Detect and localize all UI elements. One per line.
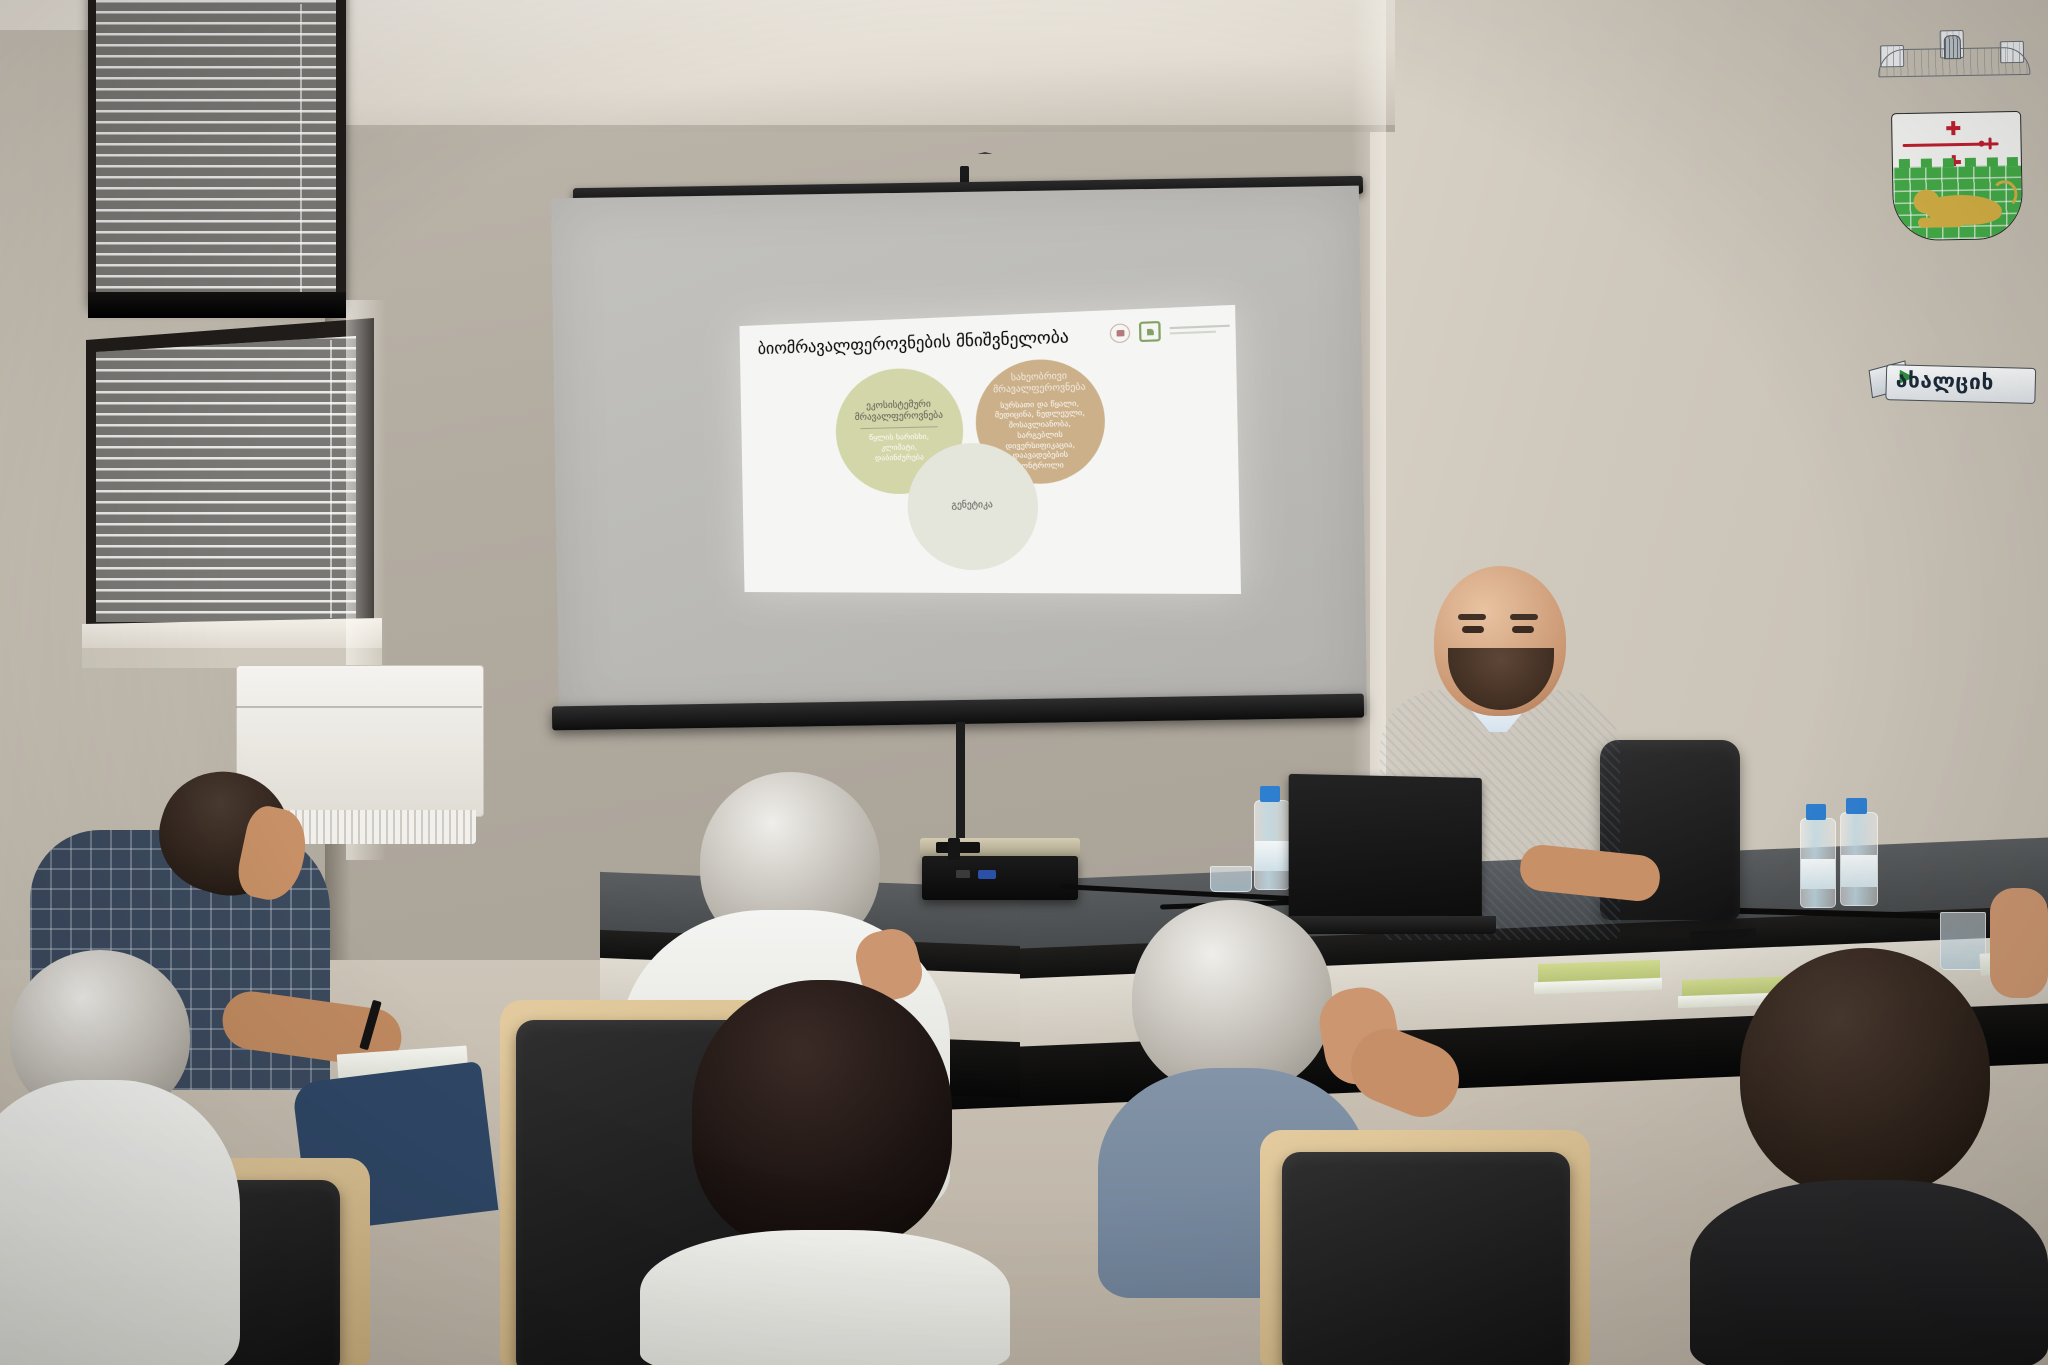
radiator-seam (236, 706, 482, 708)
laptop (1289, 774, 1482, 926)
bottle-cap (1846, 798, 1867, 814)
crest-crenel (1899, 159, 1910, 168)
circle-1-body: წყლის ხარისხი, კლიმატი, დაბინძურება (869, 432, 930, 463)
window-upper-sill (88, 292, 346, 318)
blind-cord-upper (300, 4, 302, 292)
crest-gate (1944, 35, 1961, 59)
akhaltsikhe-coat-of-arms: ახალციხ (1859, 6, 2048, 329)
crest-crenel (1987, 157, 1998, 166)
crest-crenel (1943, 158, 1954, 167)
presenter-brow-right (1510, 614, 1538, 620)
desk-projector (920, 838, 1080, 900)
ceiling-edge-line (330, 125, 1395, 132)
crest-crenel (2007, 157, 2018, 166)
attendee-dark-hair-right-torso (1690, 1180, 2048, 1365)
bottle-label (1801, 859, 1835, 889)
laptop-base (1284, 916, 1496, 934)
conference-chair-seatback (1282, 1152, 1570, 1365)
screen-pole-lower (948, 838, 960, 860)
crest-mural-crown (1878, 29, 2029, 78)
crest-crenel (1921, 158, 1932, 167)
crest-crenel (1965, 158, 1976, 167)
attendee-far-right-arm (1990, 888, 2048, 998)
circle-1-heading: ეკოსისტემური მრავალფეროვნება (854, 399, 943, 424)
presenter-brow-left (1458, 614, 1486, 620)
crest-shield (1891, 111, 2023, 241)
bottle-label (1255, 841, 1289, 871)
green-square-logo (1139, 321, 1161, 342)
circle-3-heading: გენეტიკა (951, 500, 993, 512)
bottle-cap (1260, 786, 1280, 802)
attendee-blue-polo-head (1132, 900, 1332, 1095)
ceiling-soffit (330, 0, 1395, 132)
crest-banner: ახალციხ (1869, 361, 2046, 404)
bottle-label (1841, 855, 1877, 887)
presenter-eye-right (1512, 626, 1534, 633)
attendee-white-hair-left-torso (0, 1080, 240, 1365)
crest-lion-paws (1918, 217, 1964, 228)
attendee-dark-curly-hair-head (692, 980, 952, 1250)
blind-cord-lower (330, 340, 332, 618)
crest-cross-upper (1946, 121, 1960, 135)
circular-emblem-logo (1110, 323, 1131, 343)
projector-hdmi-port (956, 870, 970, 878)
conference-room-photo: ბიომრავალფეროვნების მნიშვნელობა ეკოსისტე… (0, 0, 2048, 1365)
drinking-glass (1210, 866, 1252, 892)
water-bottle (1254, 800, 1290, 890)
water-bottle (1840, 812, 1878, 906)
crest-banner-text: ახალციხ (1895, 368, 2046, 396)
attendee-dark-hair-right-head (1740, 948, 1990, 1198)
projected-slide: ბიომრავალფეროვნების მნიშვნელობა ეკოსისტე… (739, 305, 1241, 594)
slide-logos (1110, 318, 1230, 343)
projector-body (922, 856, 1078, 900)
slide-title: ბიომრავალფეროვნების მნიშვნელობა (758, 327, 1069, 359)
presenter-eye-left (1462, 626, 1484, 633)
water-bottle (1800, 818, 1836, 908)
crest-sword-guard (1988, 137, 1991, 149)
crest-sword-pommel (1979, 141, 1985, 147)
slide-logo-wordmark (1170, 325, 1230, 335)
attendee-dark-curly-hair-torso (640, 1230, 1010, 1365)
circle-2-heading: სახეობრივი მრავალფეროვნება (993, 371, 1086, 398)
window-lower-blinds (96, 336, 356, 622)
circle-1-divider (861, 426, 937, 429)
bottle-cap (1806, 804, 1826, 820)
projector-vga-port (978, 870, 996, 879)
